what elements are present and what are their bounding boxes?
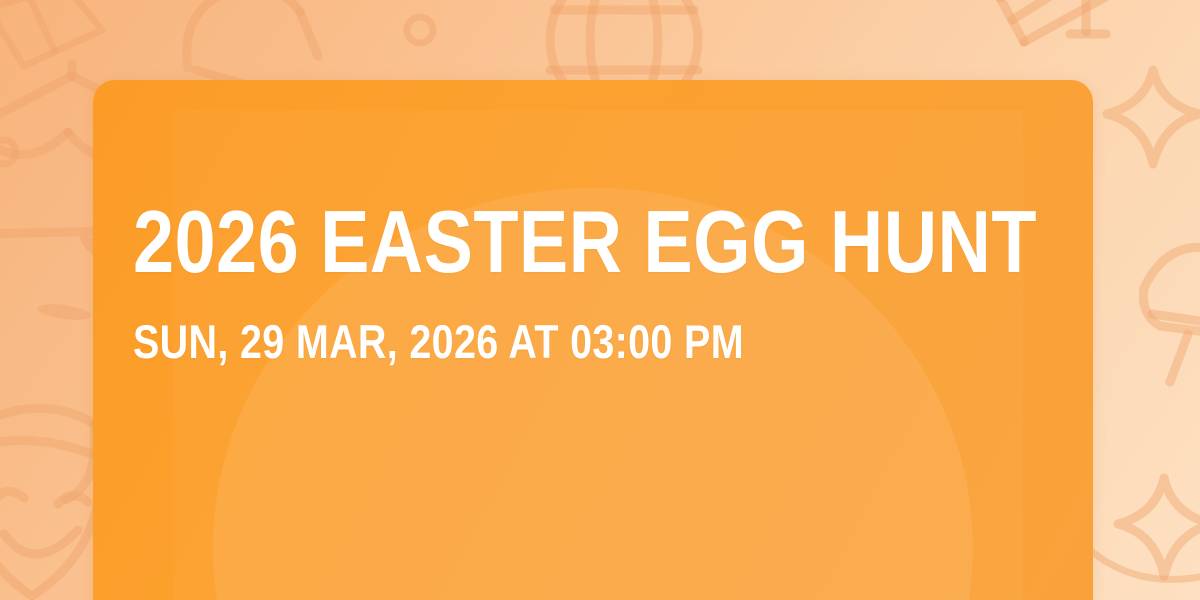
ticket-icon xyxy=(0,0,120,94)
event-hero-banner: 2026 Easter Egg Hunt Sun, 29 Mar, 2026 a… xyxy=(0,0,1200,600)
sparkle-icon xyxy=(1095,60,1200,180)
star-icon xyxy=(0,118,60,188)
event-details: 2026 Easter Egg Hunt Sun, 29 Mar, 2026 a… xyxy=(133,200,1033,365)
microphone-icon xyxy=(1130,230,1200,430)
event-title: 2026 Easter Egg Hunt xyxy=(133,200,889,284)
streamer-icon xyxy=(1086,540,1200,600)
event-card[interactable]: 2026 Easter Egg Hunt Sun, 29 Mar, 2026 a… xyxy=(93,80,1093,600)
sparkle-icon-small xyxy=(1120,470,1200,600)
event-datetime: Sun, 29 Mar, 2026 at 03:00 PM xyxy=(133,318,889,365)
confetti-dot-icon xyxy=(400,10,440,50)
